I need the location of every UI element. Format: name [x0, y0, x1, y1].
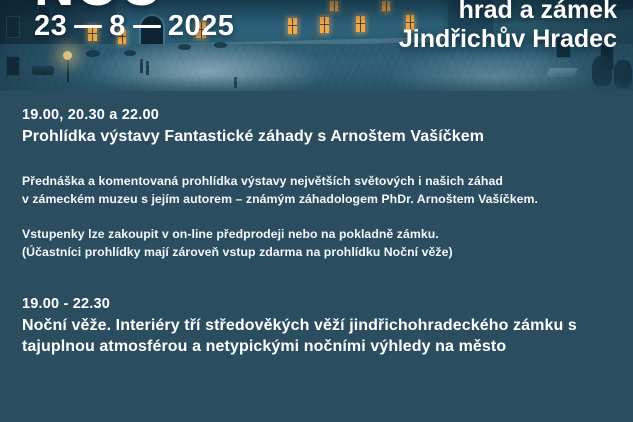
- program-section-1: 19.00, 20.30 a 22.00 Prohlídka výstavy F…: [22, 91, 611, 148]
- poster-content: 19.00, 20.30 a 22.00 Prohlídka výstavy F…: [0, 91, 633, 357]
- spacer: [22, 261, 611, 295]
- program-headline: Prohlídka výstavy Fantastické záhady s A…: [22, 127, 611, 147]
- poster-root: NOC 23 8 2025 hrad a zámek Jindřichův Hr…: [0, 0, 633, 422]
- hero-banner: NOC 23 8 2025 hrad a zámek Jindřichův Hr…: [0, 0, 633, 91]
- spacer: [22, 148, 611, 172]
- date-separator-dash: [133, 25, 161, 28]
- hero-venue-line1: hrad a zámek: [399, 0, 617, 25]
- hero-venue-line2: Jindřichův Hradec: [399, 25, 617, 54]
- hero-venue: hrad a zámek Jindřichův Hradec: [399, 0, 617, 54]
- paragraph-line: Přednáška a komentovaná prohlídka výstav…: [22, 172, 611, 190]
- spacer: [22, 208, 611, 225]
- date-separator-dash: [74, 25, 102, 28]
- program-times: 19.00 - 22.30: [22, 295, 611, 313]
- program-headline: Noční věže. Interiéry tří středověkých v…: [22, 316, 611, 357]
- paragraph-line: (Účastníci prohlídky mají zároveň vstup …: [22, 243, 611, 261]
- hero-date-month: 8: [109, 10, 126, 43]
- program-paragraph-2: Vstupenky lze zakoupit v on-line předpro…: [22, 225, 611, 261]
- program-section-2: 19.00 - 22.30 Noční věže. Interiéry tří …: [22, 295, 611, 357]
- program-paragraph-1: Přednáška a komentovaná prohlídka výstav…: [22, 172, 611, 208]
- paragraph-line: v zámeckém muzeu s jejím autorem – známý…: [22, 190, 611, 208]
- hero-date: 23 8 2025: [34, 10, 234, 43]
- hero-date-day: 23: [34, 10, 67, 43]
- paragraph-line: Vstupenky lze zakoupit v on-line předpro…: [22, 225, 611, 243]
- program-times: 19.00, 20.30 a 22.00: [22, 106, 611, 124]
- hero-date-year: 2025: [168, 10, 235, 43]
